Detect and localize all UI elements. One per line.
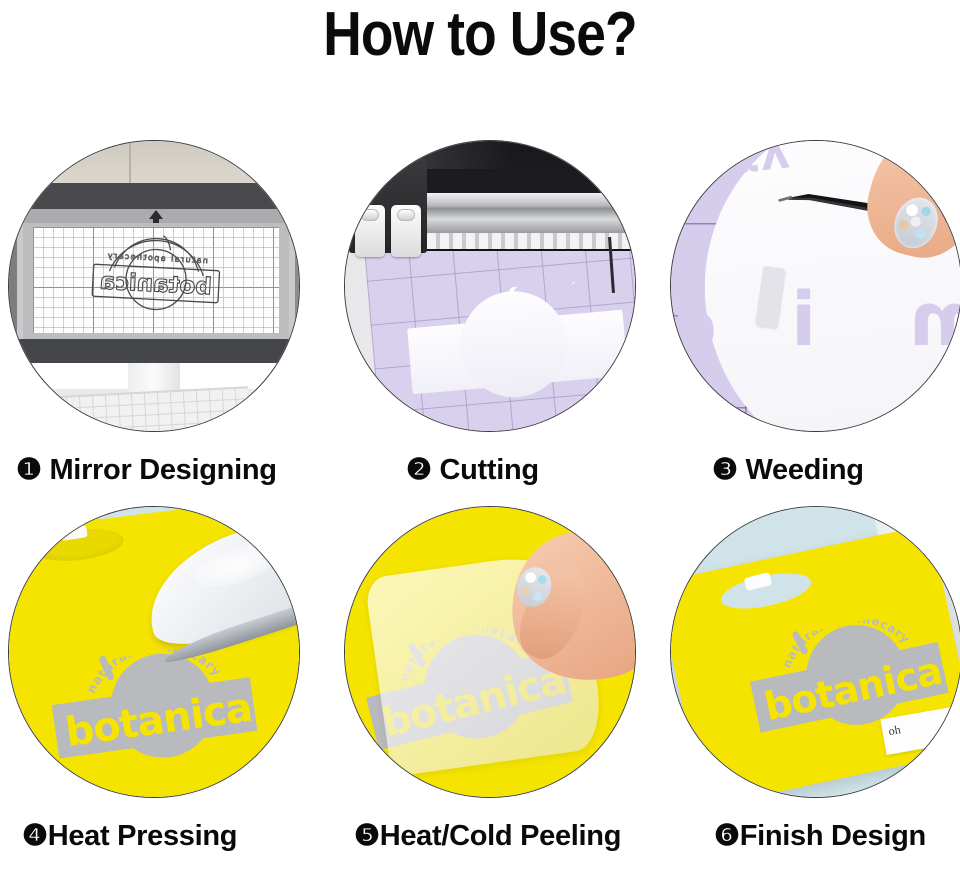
- svg-text:botanica: botanica: [99, 269, 212, 301]
- vinyl-sheet: natural apothecary: [405, 282, 630, 408]
- clamp-knob-b: [397, 209, 415, 221]
- monitor: botanica natural apothecary: [17, 183, 295, 363]
- infographic-page: How to Use?: [0, 0, 960, 877]
- scene-peeling-carrier-sheet: natural apothecary botanica: [345, 507, 635, 797]
- scene-monitor-design-software: botanica natural apothecary: [9, 141, 299, 431]
- step-caption-4: ❹Heat Pressing: [22, 818, 342, 853]
- design-canvas-grid: botanica natural apothecary: [33, 227, 279, 333]
- mirrored-letter-c: c: [673, 289, 717, 363]
- blade-clamp-a: [355, 205, 385, 257]
- step-caption-3: ❸ Weeding: [712, 452, 960, 487]
- steps-grid: botanica natural apothecary ❶ Mirror Des…: [0, 126, 960, 877]
- step-image-6: natural apothecary botanica oh: [670, 506, 960, 798]
- machine-brand-label: cricut: [357, 169, 376, 176]
- svg-text:natural apothecary: natural apothecary: [106, 251, 208, 265]
- step-image-3: ʎɹɐɔ c i m: [670, 140, 960, 432]
- step-image-2: StrongGrip natural apothecary: [344, 140, 636, 432]
- monitor-bezel-bottom: [17, 339, 295, 363]
- up-arrow-stem-icon: [153, 218, 159, 223]
- scene-iron-pressing-shirt: natural apothecary botanica: [9, 507, 299, 797]
- step-caption-6: ❻Finish Design: [714, 818, 960, 853]
- monitor-screen: botanica natural apothecary: [23, 209, 289, 339]
- price-tag-text: oh: [887, 722, 901, 739]
- step-caption-1: ❶ Mirror Designing: [16, 452, 336, 487]
- mirrored-letter-i: i: [791, 283, 816, 357]
- software-toolbar: [23, 209, 289, 223]
- step-caption-2: ❷ Cutting: [406, 452, 726, 487]
- scene-vinyl-cutting-machine: StrongGrip natural apothecary: [345, 141, 635, 431]
- scene-finished-folded-shirt: natural apothecary botanica oh: [671, 507, 960, 797]
- clamp-knob-a: [361, 209, 379, 221]
- step-image-1: botanica natural apothecary: [8, 140, 300, 432]
- machine-carriage: cricut: [349, 159, 427, 253]
- scene-weeding-with-tweezers: ʎɹɐɔ c i m: [671, 141, 960, 431]
- step-image-4: natural apothecary botanica: [8, 506, 300, 798]
- step-image-5: natural apothecary botanica: [344, 506, 636, 798]
- blade-clamp-b: [391, 205, 421, 257]
- mirrored-logo-outline: botanica natural apothecary: [78, 224, 233, 337]
- mirrored-letter-m: m: [909, 283, 960, 357]
- monitor-bezel-top: [17, 183, 295, 209]
- page-title: How to Use?: [67, 2, 893, 67]
- step-caption-5: ❺Heat/Cold Peeling: [354, 818, 674, 853]
